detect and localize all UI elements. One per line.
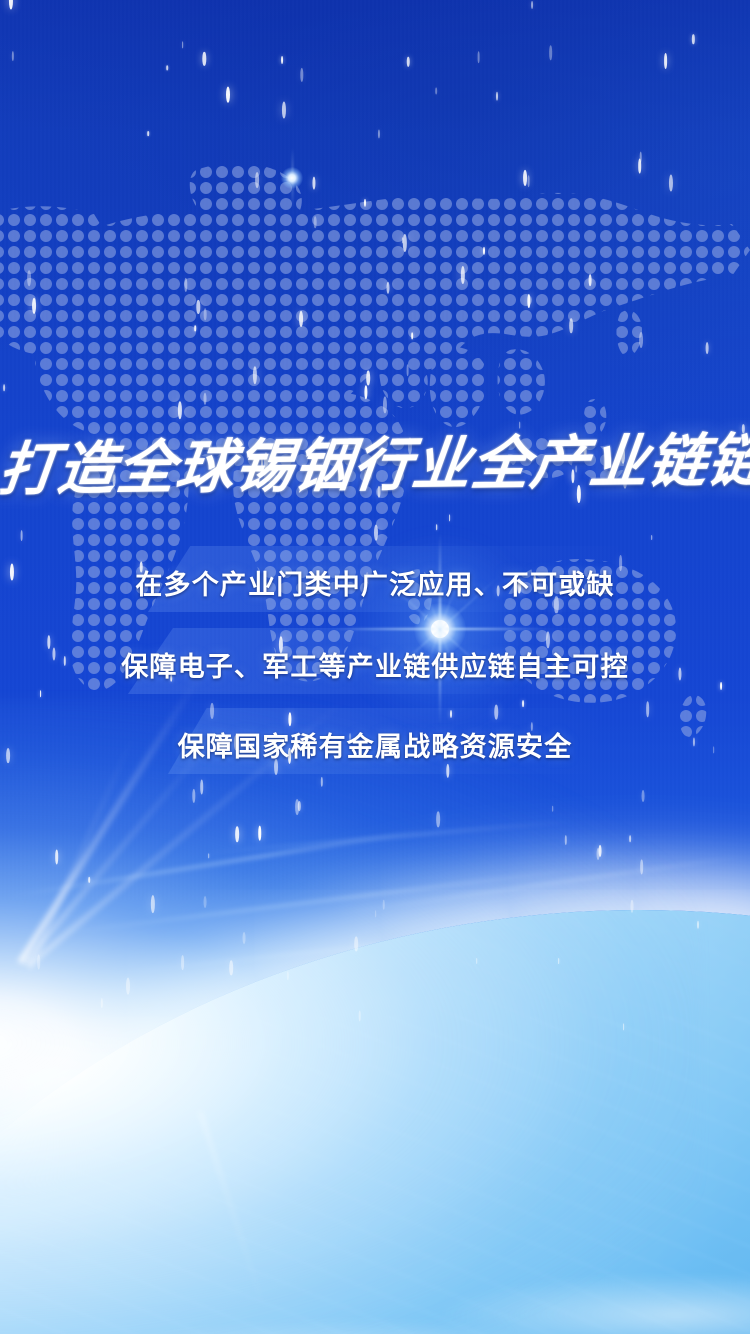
sparkle-particle <box>639 332 643 348</box>
sparkle-particle <box>88 877 90 883</box>
sparkle-particle <box>204 308 207 319</box>
sparkle-particle <box>182 41 184 48</box>
sparkle-particle <box>382 899 385 909</box>
sparkle-particle <box>374 524 378 541</box>
sparkle-particle <box>642 790 645 802</box>
sparkle-particle <box>226 86 230 103</box>
sparkle-particle <box>623 1023 625 1030</box>
sparkle-particle <box>230 960 234 975</box>
sparkle-particle <box>495 704 499 719</box>
sparkle-particle <box>243 932 246 944</box>
sparkle-particle <box>281 56 283 64</box>
sparkle-particle <box>640 860 644 875</box>
sparkle-particle <box>522 700 524 708</box>
sparkle-particle <box>589 274 592 286</box>
sparkle-particle <box>126 977 130 994</box>
poster-title: 打造全球锡铟行业全产业链链主 <box>0 413 750 506</box>
sparkle-particle <box>181 955 185 971</box>
sparkle-particle <box>312 177 315 190</box>
sparkle-particle <box>651 535 653 541</box>
sparkle-particle <box>664 53 668 69</box>
poster-subtitle-1: 在多个产业门类中广泛应用、不可或缺 <box>0 563 750 602</box>
sparkle-particle <box>375 910 377 917</box>
sparkle-particle <box>295 799 299 815</box>
sparkle-particle <box>3 384 5 391</box>
sparkle-particle <box>552 806 554 813</box>
sparkle-particle <box>255 172 259 188</box>
sparkle-particle <box>203 896 206 908</box>
sparkle-particle <box>194 326 196 331</box>
sparkle-particle <box>450 710 452 718</box>
sparkle-particle <box>27 270 31 286</box>
sparkle-particle <box>646 701 650 716</box>
sparkle-particle <box>549 45 553 60</box>
sparkle-particle <box>406 365 409 377</box>
sparkle-particle <box>412 332 414 339</box>
sparkle-particle <box>558 958 560 964</box>
poster-subtitle-3: 保障国家稀有金属战略资源安全 <box>0 725 750 764</box>
sparkle-particle <box>314 217 317 228</box>
sparkle-particle <box>40 690 42 697</box>
sparkle-particle <box>596 848 599 860</box>
sparkle-particle <box>258 826 262 841</box>
sparkle-particle <box>386 281 389 294</box>
sparkle-particle <box>37 954 41 969</box>
sparkle-particle <box>235 826 239 842</box>
sparkle-particle <box>496 92 498 101</box>
sparkle-particle <box>629 835 631 843</box>
sparkle-particle <box>208 853 210 858</box>
poster-canvas: 打造全球锡铟行业全产业链链主 在多个产业门类中广泛应用、不可或缺 保障电子、军工… <box>0 0 750 1334</box>
sparkle-particle <box>210 703 214 719</box>
sparkle-particle <box>147 131 149 137</box>
sparkle-particle <box>669 174 673 191</box>
sparkle-particle <box>531 1 533 9</box>
poster-subtitle-2: 保障电子、军工等产业链供应链自主可控 <box>0 645 750 684</box>
sparkle-particle <box>32 298 36 314</box>
sparkle-particle <box>20 530 23 542</box>
sparkle-particle <box>407 56 410 67</box>
sparkle-particle <box>435 87 437 94</box>
sparkle-particle <box>449 514 451 521</box>
sparkle-particle <box>476 958 478 964</box>
sparkle-particle <box>706 342 709 354</box>
sparkle-particle <box>166 65 168 70</box>
sparkle-particle <box>436 525 438 531</box>
sparkle-particle <box>527 175 530 187</box>
sparkle-particle <box>55 849 59 864</box>
sparkle-particle <box>366 370 370 385</box>
sparkle-particle <box>638 158 642 173</box>
sparkle-particle <box>436 812 440 827</box>
sparkle-particle <box>200 779 204 794</box>
sparkle-particle <box>204 393 207 406</box>
sparkle-particle <box>355 936 359 951</box>
sparkle-particle <box>477 51 480 63</box>
sparkle-particle <box>299 311 303 327</box>
sparkle-particle <box>359 1011 362 1022</box>
sparkle-particle <box>569 318 573 333</box>
